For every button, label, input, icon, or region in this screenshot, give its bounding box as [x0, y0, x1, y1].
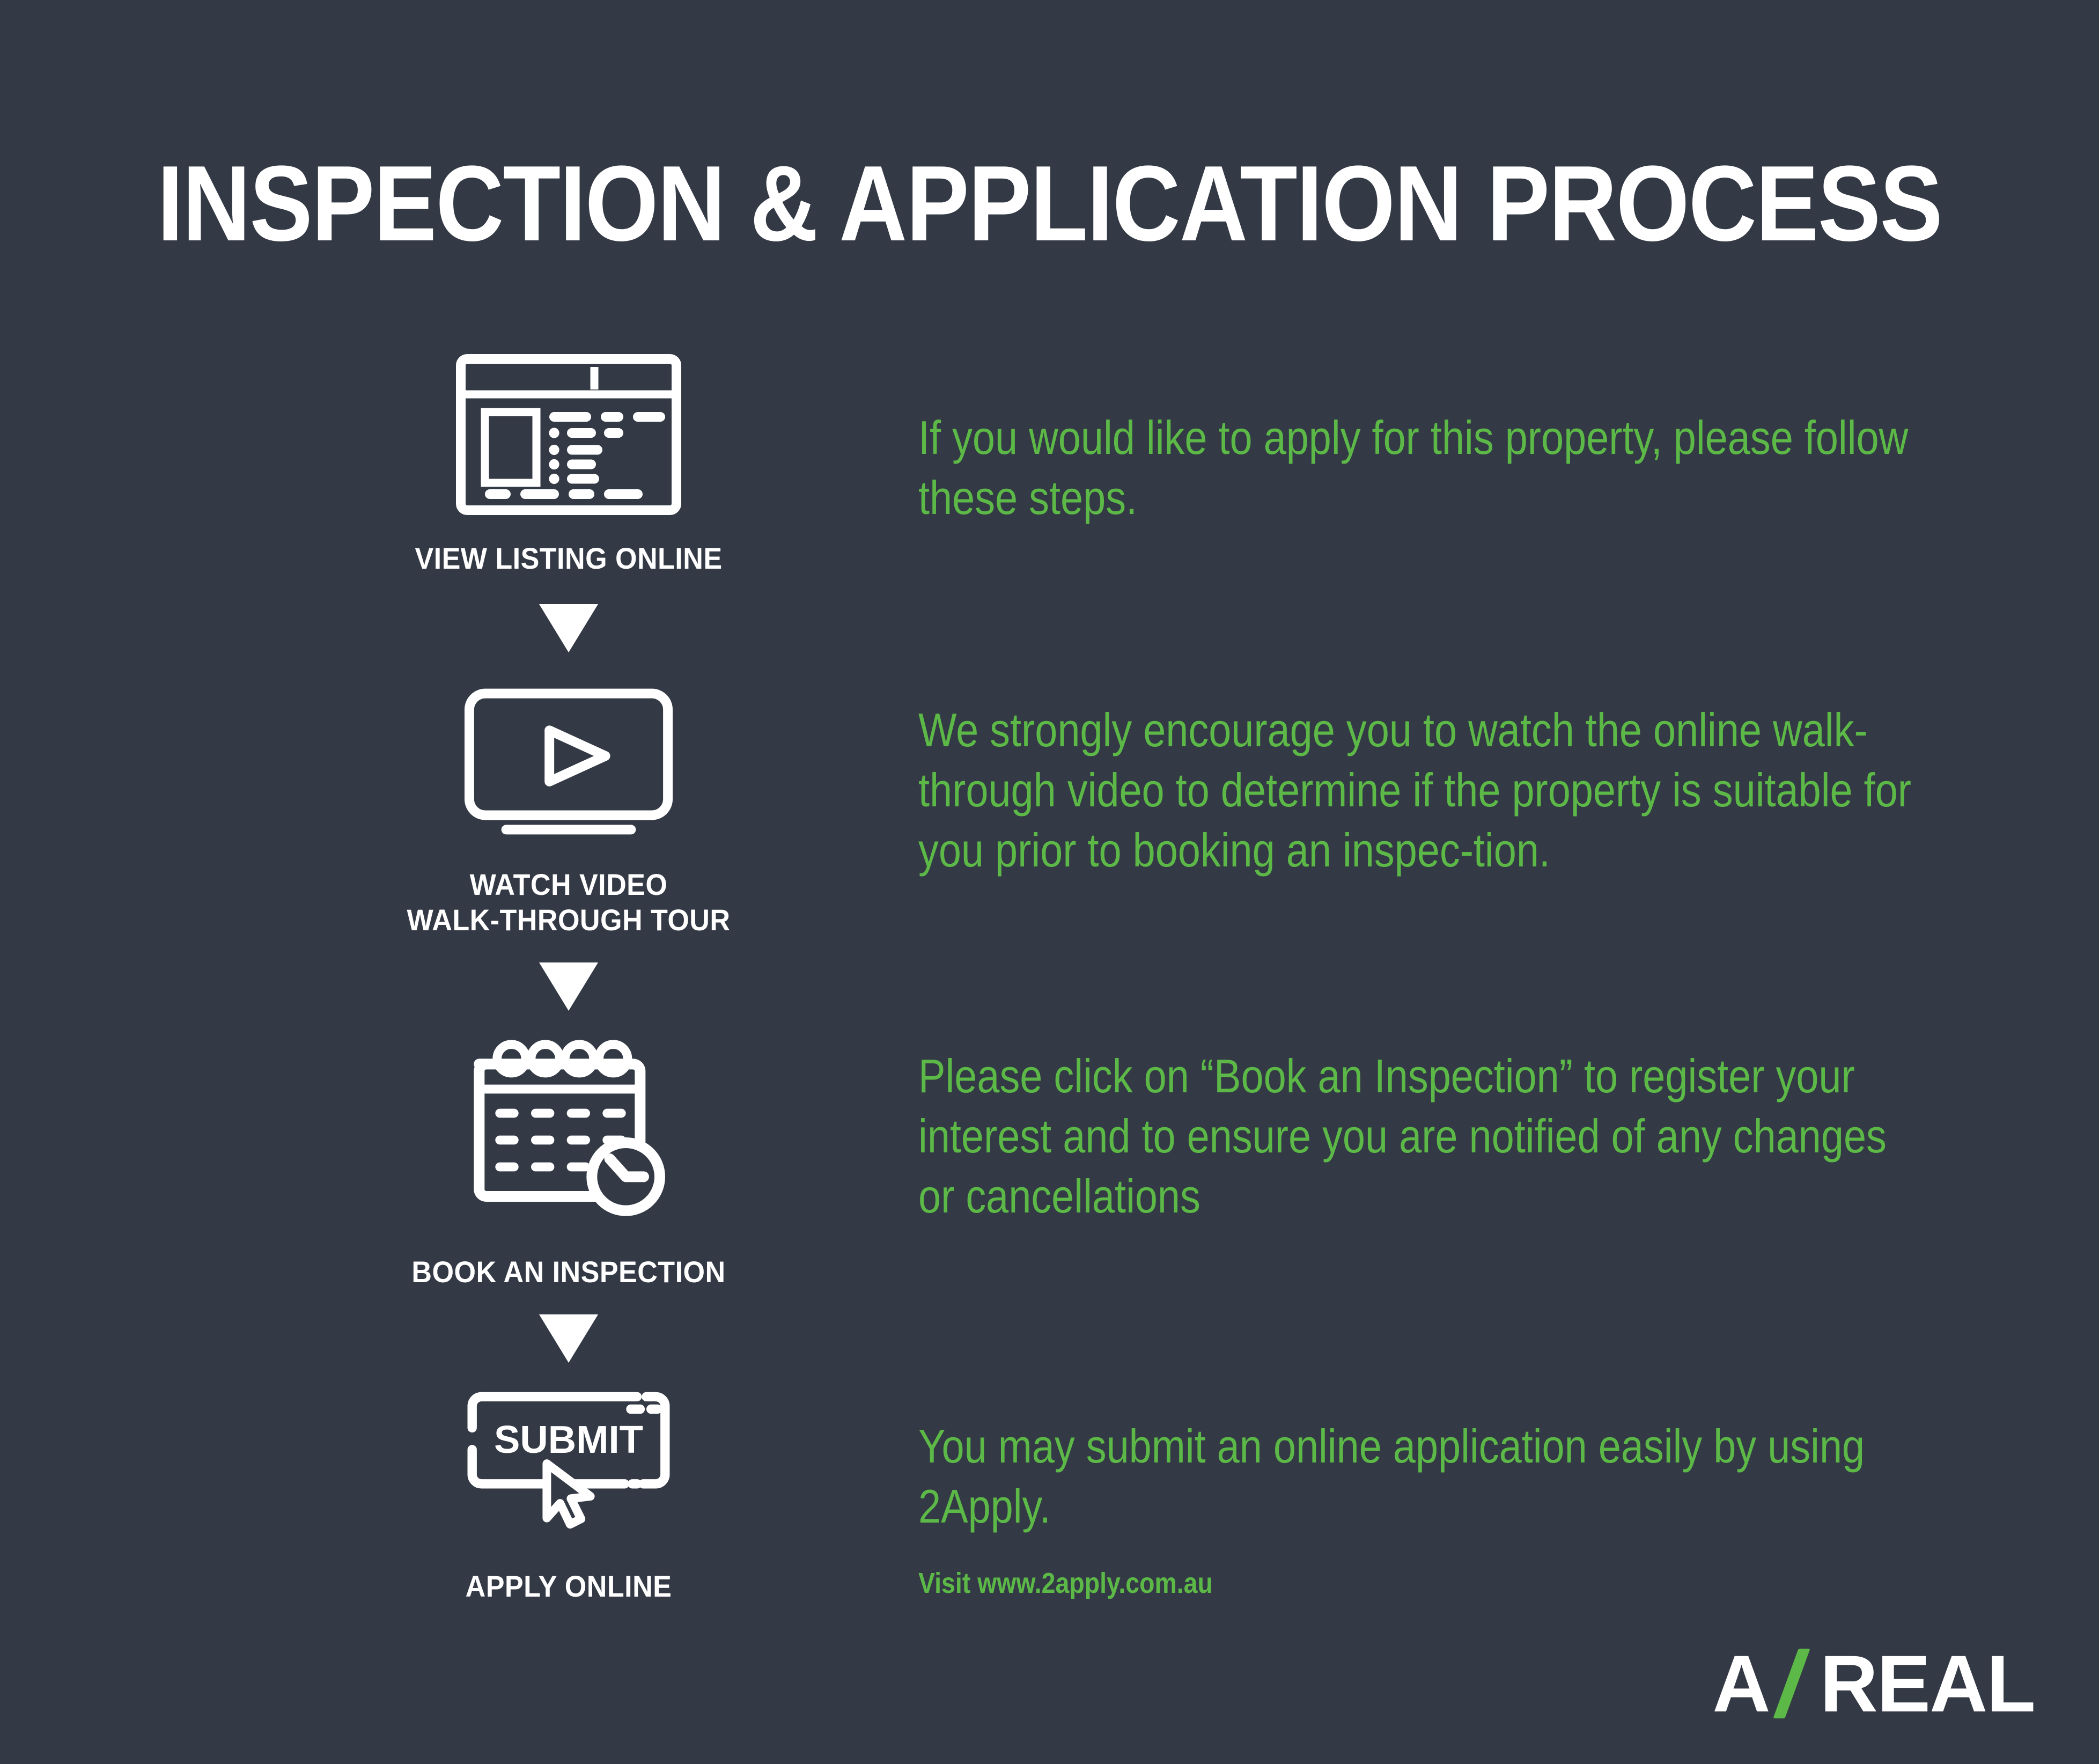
flow-arrow-3-icon [539, 1314, 598, 1363]
submit-icon-label: SUBMIT [494, 1418, 643, 1461]
listing-window-icon [456, 354, 681, 515]
step-label: APPLY ONLINE [359, 1569, 778, 1604]
copy-paragraph-1: If you would like to apply for this prop… [918, 408, 1924, 528]
step-label: VIEW LISTING ONLINE [359, 541, 778, 576]
logo-letter-a: A [1712, 1643, 1769, 1724]
video-play-monitor-icon [461, 680, 676, 841]
step-view-listing-online: VIEW LISTING ONLINE [343, 354, 794, 576]
step-label: WATCH VIDEO WALK-THROUGH TOUR [359, 867, 778, 938]
flow-arrow-1-icon [539, 604, 598, 652]
page-title: INSPECTION & APPLICATION PROCESS [126, 150, 1973, 258]
step-book-an-inspection: BOOK AN INSPECTION [343, 1035, 794, 1290]
visit-url-line[interactable]: Visit www.2apply.com.au [918, 1567, 1213, 1600]
copy-paragraph-4: You may submit an online application eas… [918, 1416, 1924, 1537]
step-apply-online: SUBMIT APPLY ONLINE [343, 1387, 794, 1604]
process-steps-column: VIEW LISTING ONLINE WATCH VIDEO WALK-THR… [343, 354, 794, 1604]
flow-arrow-2-icon [539, 962, 598, 1011]
copy-paragraph-2: We strongly encourage you to watch the o… [918, 700, 1924, 880]
logo-slash-icon [1773, 1649, 1810, 1718]
step-watch-video-walkthrough: WATCH VIDEO WALK-THROUGH TOUR [343, 680, 794, 938]
copy-paragraph-3: Please click on “Book an Inspection” to … [918, 1046, 1924, 1226]
submit-button-cursor-icon: SUBMIT [461, 1387, 676, 1543]
logo-word-real: REAL [1820, 1643, 2035, 1724]
brand-logo: A REAL [1712, 1643, 2035, 1724]
step-label: BOOK AN INSPECTION [359, 1254, 778, 1290]
calendar-clock-icon [461, 1035, 676, 1229]
infographic-page: INSPECTION & APPLICATION PROCESS [0, 0, 2099, 1764]
